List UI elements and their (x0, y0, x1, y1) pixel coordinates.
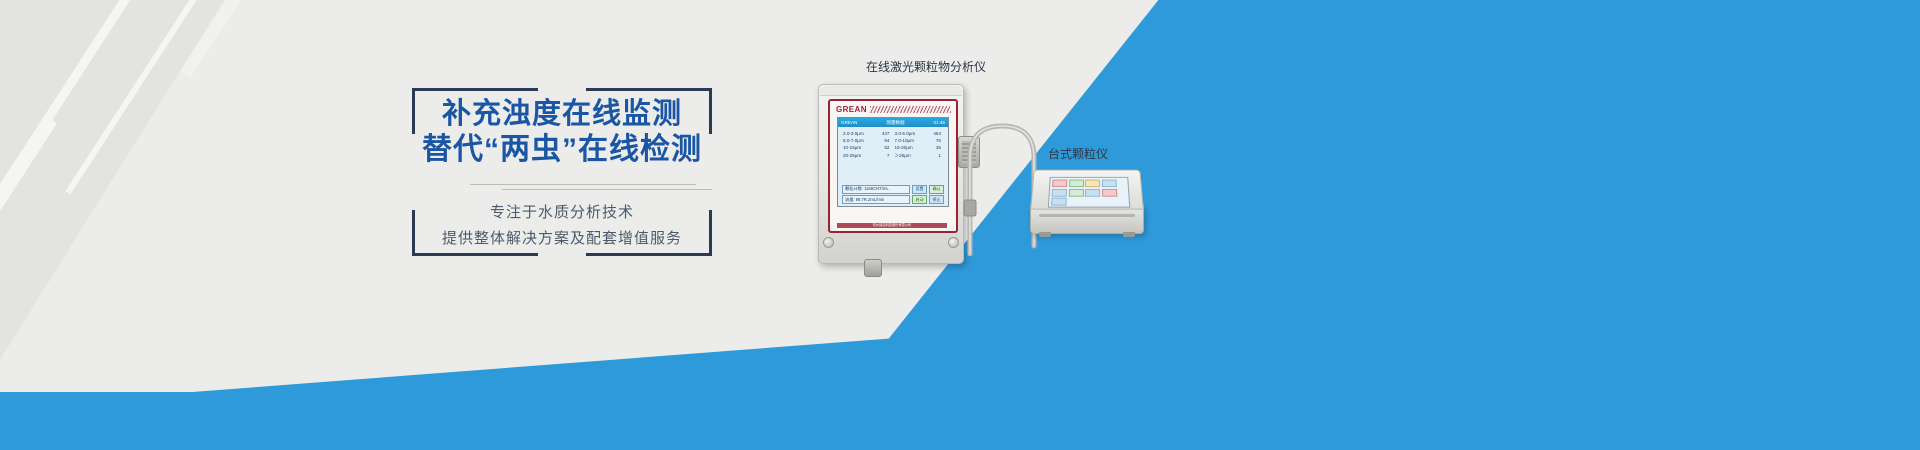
stop-button[interactable]: 停止 (929, 195, 944, 204)
callout-online-analyzer: 在线激光颗粒物分析仪 (866, 58, 986, 75)
benchtop-display[interactable] (1048, 177, 1130, 208)
set-button[interactable]: 设置 (912, 185, 927, 194)
display-cell (1101, 180, 1116, 187)
display-cell (1052, 189, 1067, 197)
device-footer-note: 杭州绿洁科技股份有限公司 (837, 223, 947, 228)
measurement-table-body: 2.0-3.0μm 447 3.0-5.0μm 454 5.0-7.0μm 94… (842, 130, 945, 160)
subtitle-line-1: 专注于水质分析技术 (412, 200, 712, 226)
display-cell (1068, 189, 1083, 197)
analyzer-cable-gland (864, 259, 882, 277)
flow-rate-value: 流量: 98.7R.2mL/min (842, 195, 910, 204)
table-row: 5.0-7.0μm 94 7.0-10μm 76 (842, 137, 945, 144)
tubing-fitting (964, 200, 976, 216)
benchtop-console (1030, 170, 1144, 210)
benchtop-foot (1039, 232, 1051, 237)
table-row: 2.0-3.0μm 447 3.0-5.0μm 454 (842, 130, 945, 137)
count-a: 7 (875, 152, 893, 160)
brand-hatch-decoration (870, 106, 951, 113)
display-title-left: GREAN (841, 120, 857, 125)
tubing-highlight (970, 126, 1034, 254)
status-row: 流量: 98.7R.2mL/min 启动 停止 (842, 195, 944, 204)
display-cell (1085, 189, 1100, 197)
display-cell (1101, 189, 1116, 197)
count-a: 447 (875, 130, 893, 137)
table-row: 10-15μm 52 15-20μm 35 (842, 144, 945, 151)
subtitle-line-2: 提供整体解决方案及配套增值服务 (412, 226, 712, 252)
divider-rule-upper (470, 184, 696, 185)
range-a: 20-25μm (842, 152, 875, 160)
count-a: 94 (875, 137, 893, 144)
banner-stage: 补充浊度在线监测 替代“两虫”在线检测 专注于水质分析技术 提供整体解决方案及配… (0, 0, 1920, 450)
count-b: 454 (927, 130, 945, 137)
count-b: 35 (927, 144, 945, 151)
range-b: 3.0-5.0μm (893, 130, 926, 137)
divider-rule-lower (502, 189, 712, 190)
display-title-bar: GREAN 测量数据 01:46 (838, 118, 948, 127)
headline-line-2: 替代“两虫”在线检测 (412, 132, 712, 168)
range-a: 10-15μm (842, 144, 875, 151)
ok-button[interactable]: 确认 (929, 185, 944, 194)
display-cell (1069, 180, 1084, 187)
analyzer-top-lip (820, 86, 962, 96)
range-b: 15-20μm (893, 144, 926, 151)
analyzer-screw (948, 237, 959, 248)
count-b: 1 (927, 152, 945, 160)
display-status-area: 颗粒计数: 1166CNT/mL 设置 确认 流量: 98.7R.2mL/min… (838, 184, 948, 207)
analyzer-screw (823, 237, 834, 248)
display-cell (1085, 180, 1100, 187)
headline-block: 补充浊度在线监测 替代“两虫”在线检测 专注于水质分析技术 提供整体解决方案及配… (412, 88, 712, 256)
benchtop-foot (1123, 232, 1135, 237)
analyzer-front-panel: GREAN GREAN 测量数据 01:46 2.0-3.0μm 447 3.0 (828, 99, 958, 233)
count-a: 52 (875, 144, 893, 151)
measurement-table: 2.0-3.0μm 447 3.0-5.0μm 454 5.0-7.0μm 94… (842, 130, 945, 160)
display-cell (1052, 180, 1067, 187)
range-a: 2.0-3.0μm (842, 130, 875, 137)
particle-count-table: 2.0-3.0μm 447 3.0-5.0μm 454 5.0-7.0μm 94… (838, 127, 948, 184)
device-brand-label: GREAN (836, 105, 867, 114)
background-blue-bottom-bar (0, 392, 830, 450)
subtitle: 专注于水质分析技术 提供整体解决方案及配套增值服务 (412, 200, 712, 252)
display-cell (1051, 198, 1067, 206)
display-title-center: 测量数据 (886, 120, 904, 126)
table-row: 20-25μm 7 ＞25μm 1 (842, 152, 945, 160)
range-a: 5.0-7.0μm (842, 137, 875, 144)
online-laser-particle-analyzer: GREAN GREAN 测量数据 01:46 2.0-3.0μm 447 3.0 (818, 84, 964, 264)
count-b: 76 (927, 137, 945, 144)
headline: 补充浊度在线监测 替代“两虫”在线检测 (412, 96, 712, 168)
headline-line-1: 补充浊度在线监测 (412, 96, 712, 132)
particle-count-value: 颗粒计数: 1166CNT/mL (842, 185, 910, 194)
display-title-right: 01:46 (933, 120, 945, 125)
range-b: 7.0-10μm (893, 137, 926, 144)
tubing-path (970, 126, 1034, 254)
benchtop-particle-counter (1030, 168, 1148, 246)
analyzer-display[interactable]: GREAN 测量数据 01:46 2.0-3.0μm 447 3.0-5.0μm… (837, 117, 949, 207)
start-button[interactable]: 启动 (912, 195, 927, 204)
status-row: 颗粒计数: 1166CNT/mL 设置 确认 (842, 185, 944, 194)
range-b: ＞25μm (893, 152, 926, 160)
